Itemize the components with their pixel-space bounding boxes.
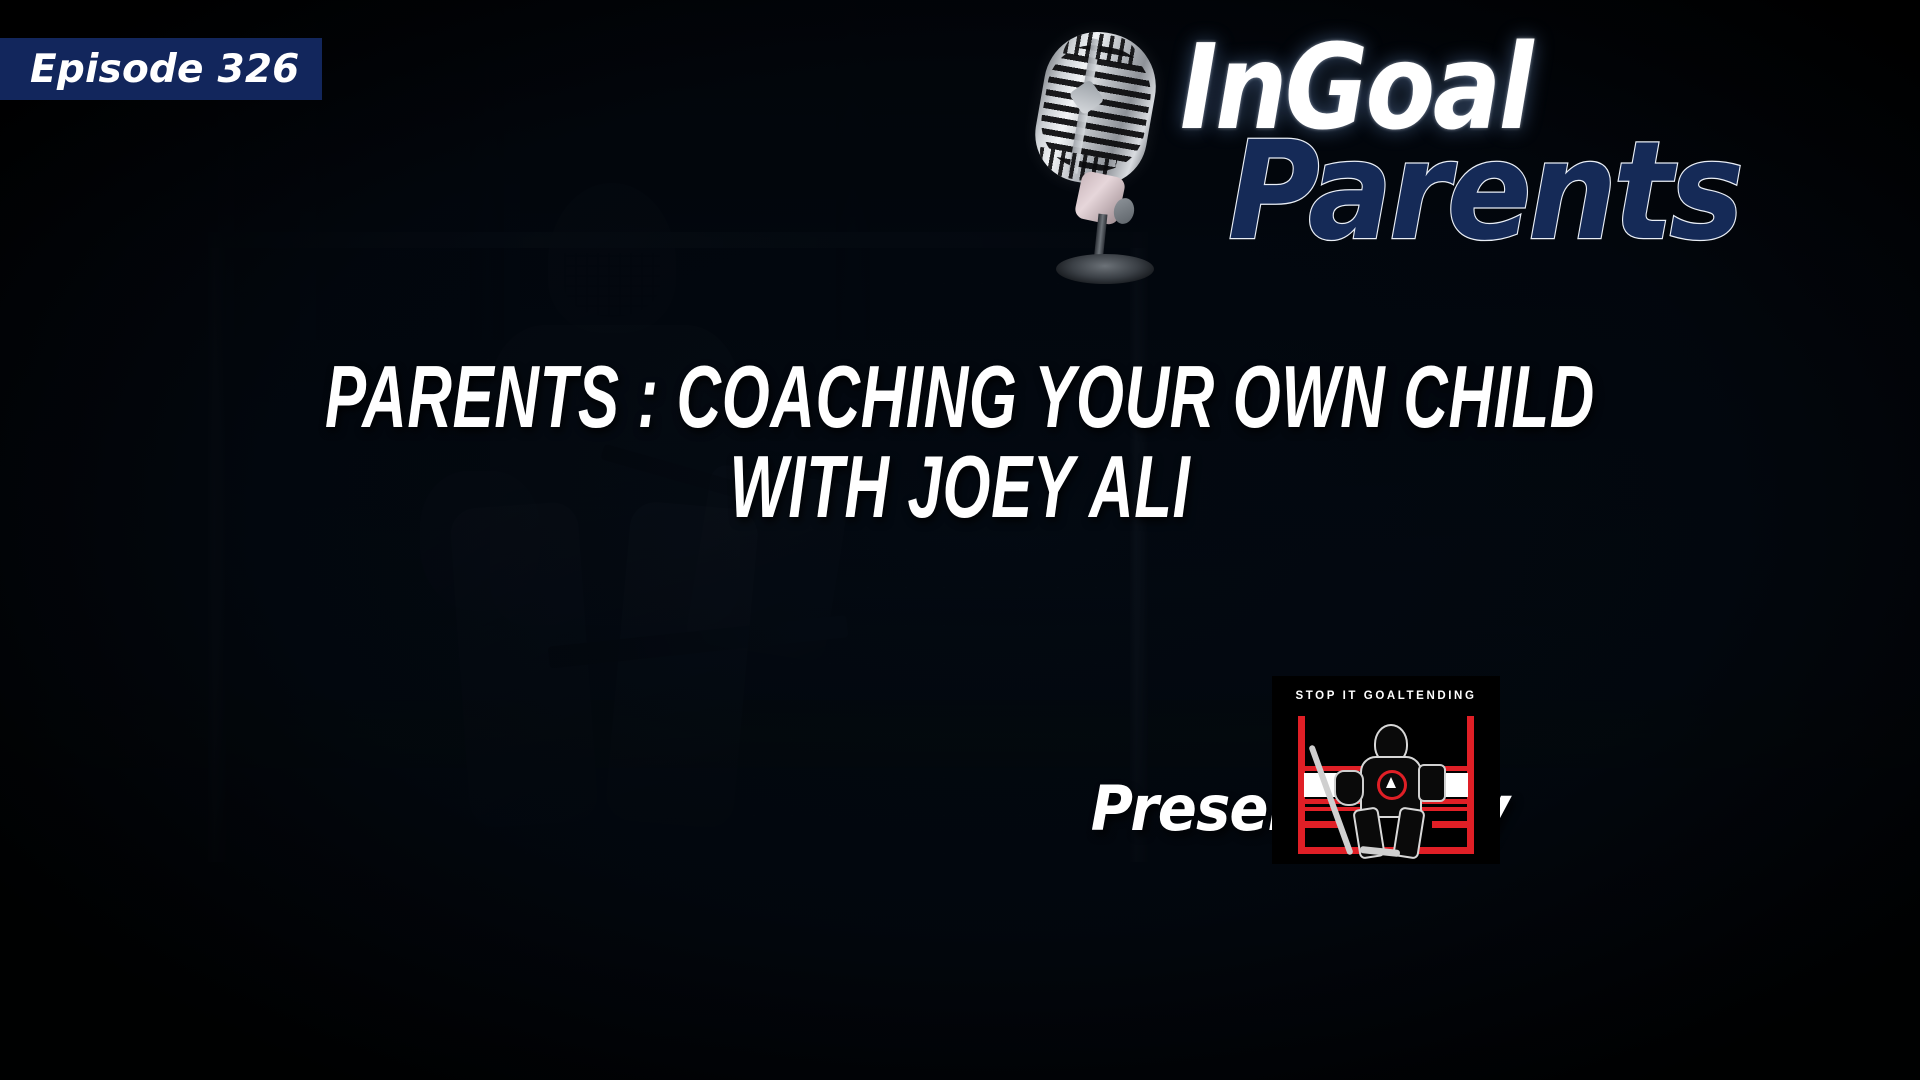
sponsor-logo: STOP IT GOALTENDING (1272, 676, 1500, 864)
sponsor-wordmark: STOP IT GOALTENDING (1272, 690, 1500, 702)
podcast-episode-cover: Episode 326 InGoal Parents PARENTS : COA… (0, 0, 1920, 1080)
show-wordmark: InGoal Parents (1180, 18, 1900, 286)
goalie-silhouette-icon (1350, 724, 1428, 856)
wordmark-parents: Parents (1228, 124, 1740, 260)
episode-number-label: Episode 326 (30, 47, 300, 92)
sponsor-u-monogram (1298, 716, 1474, 854)
retro-microphone-icon (1022, 26, 1182, 276)
episode-title-line-1: PARENTS : COACHING YOUR OWN CHILD (288, 352, 1632, 442)
episode-title-line-2: WITH JOEY ALI (288, 442, 1632, 532)
show-branding: InGoal Parents (1012, 18, 1902, 288)
episode-number-badge: Episode 326 (0, 38, 322, 100)
episode-title: PARENTS : COACHING YOUR OWN CHILD WITH J… (0, 352, 1920, 532)
